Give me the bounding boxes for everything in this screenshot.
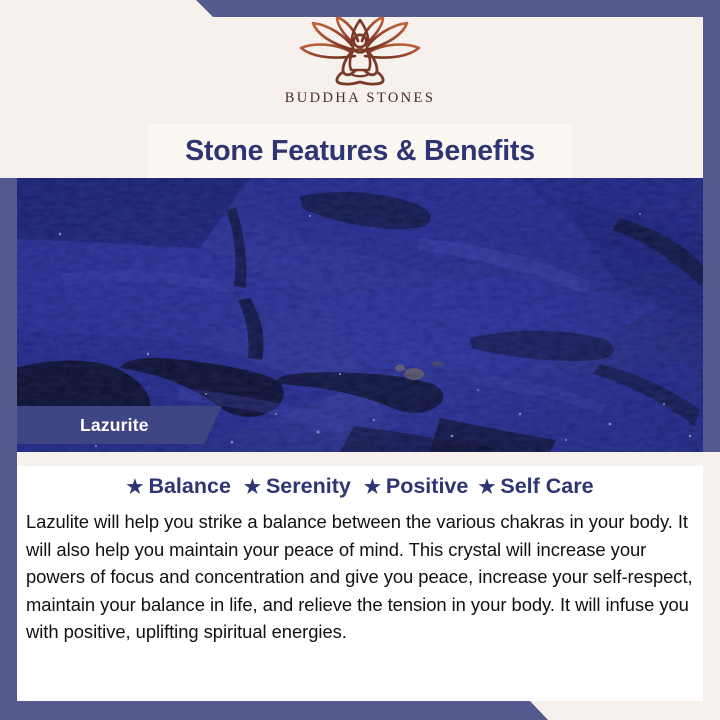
benefit-serenity: ★ Serenity	[244, 474, 351, 499]
star-icon: ★	[126, 478, 143, 497]
benefit-label: Positive	[386, 474, 468, 499]
stone-name: Lazurite	[80, 415, 149, 436]
frame-right-accent-bar	[703, 0, 720, 452]
frame-bottom-accent-bar	[0, 701, 720, 720]
stone-name-tag: Lazurite	[17, 406, 222, 444]
stone-info-poster: BUDDHA STONES Stone Features & Benefits	[0, 0, 720, 720]
brand-logo: BUDDHA STONES	[0, 14, 720, 122]
benefit-label: Balance	[148, 474, 230, 499]
star-icon: ★	[244, 478, 261, 497]
brand-name: BUDDHA STONES	[285, 90, 436, 107]
benefit-self-care: ★ Self Care	[478, 474, 593, 499]
benefit-label: Self Care	[500, 474, 593, 499]
content-top-strip	[17, 452, 703, 466]
star-icon: ★	[478, 478, 495, 497]
benefit-label: Serenity	[266, 474, 351, 499]
lotus-meditation-icon	[285, 14, 435, 88]
star-icon: ★	[364, 478, 381, 497]
content-panel: ★ Balance ★ Serenity ★ Positive ★ Self C…	[17, 452, 703, 701]
frame-left-accent-bar	[0, 178, 17, 720]
benefit-balance: ★ Balance	[126, 474, 231, 499]
benefit-positive: ★ Positive	[364, 474, 469, 499]
page-title: Stone Features & Benefits	[185, 135, 535, 168]
benefits-row: ★ Balance ★ Serenity ★ Positive ★ Self C…	[17, 474, 703, 499]
stone-description: Lazulite will help you strike a balance …	[26, 508, 694, 646]
title-banner: Stone Features & Benefits	[148, 124, 572, 178]
